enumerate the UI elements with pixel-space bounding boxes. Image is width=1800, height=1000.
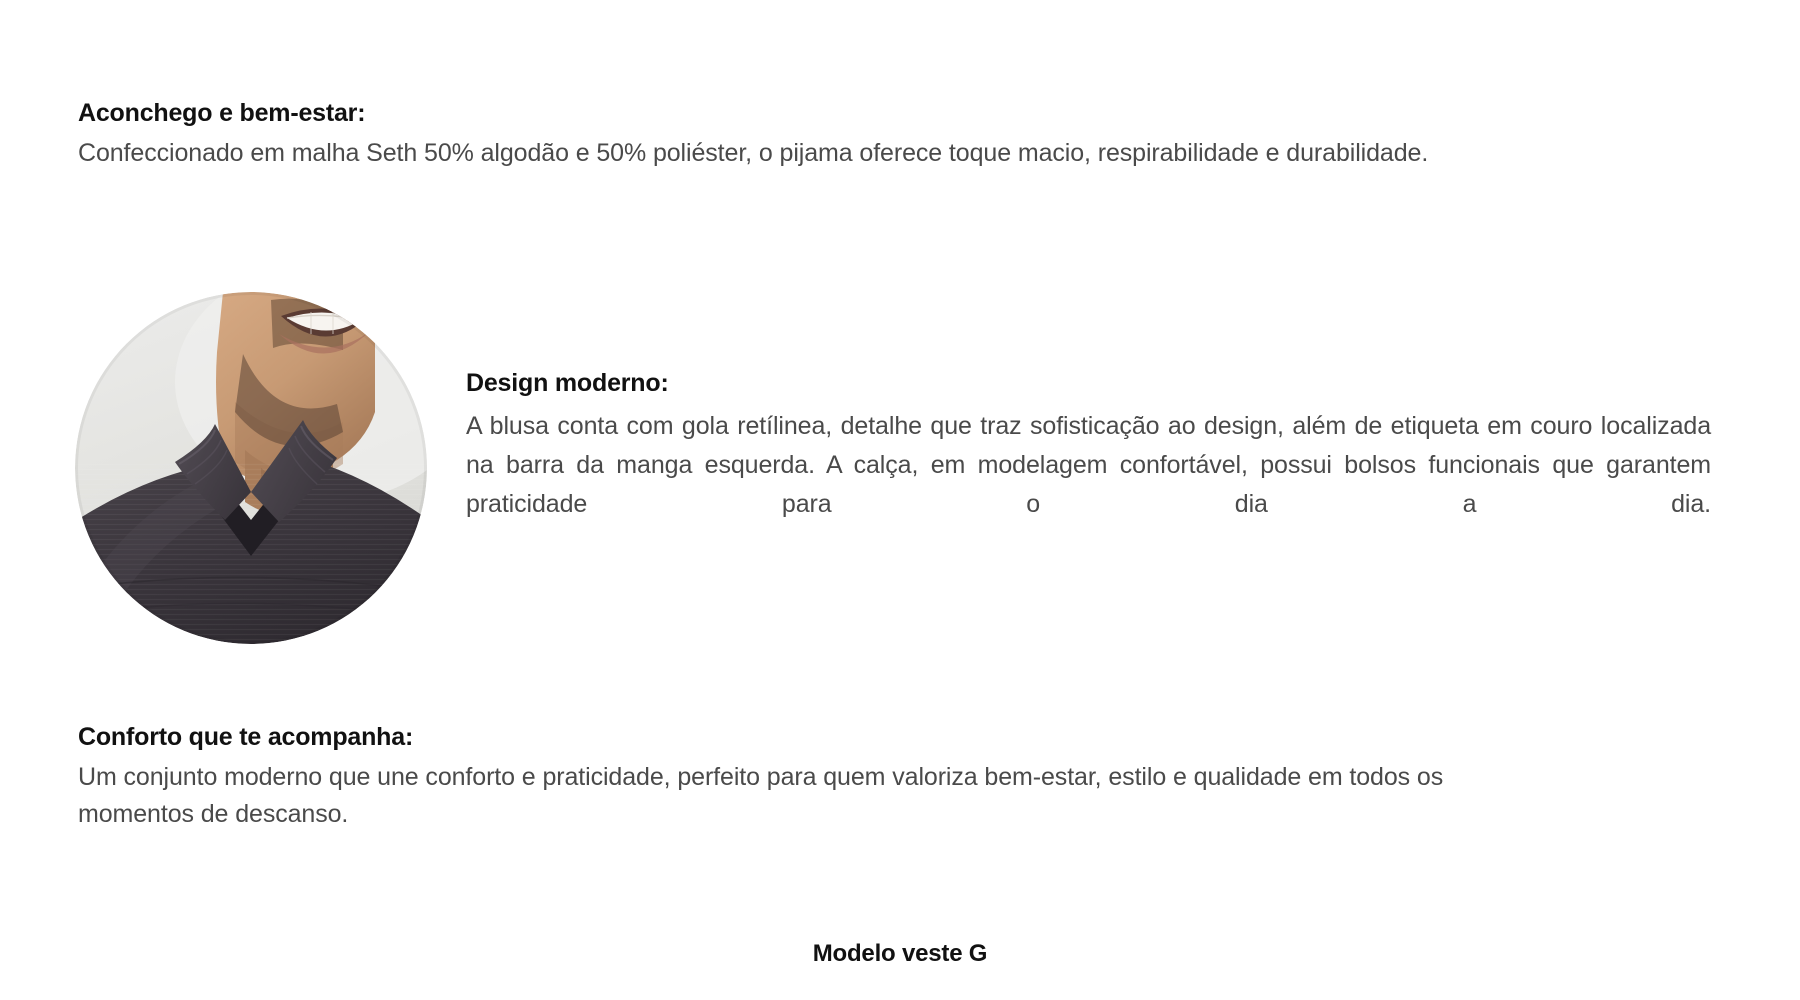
section-design-body: A blusa conta com gola retílinea, detalh…	[466, 407, 1711, 563]
section-comfort-heading: Aconchego e bem-estar:	[78, 98, 1498, 129]
model-photo-illustration	[75, 292, 427, 644]
section-design: Design moderno: A blusa conta com gola r…	[466, 368, 1711, 563]
model-size-note: Modelo veste G	[0, 940, 1800, 968]
section-closing: Conforto que te acompanha: Um conjunto m…	[78, 722, 1508, 833]
section-closing-heading: Conforto que te acompanha:	[78, 722, 1508, 753]
model-photo	[75, 292, 427, 644]
section-closing-body: Um conjunto moderno que une conforto e p…	[78, 759, 1508, 833]
section-design-heading: Design moderno:	[466, 368, 1711, 399]
product-description-page: Aconchego e bem-estar: Confeccionado em …	[0, 0, 1800, 1000]
section-comfort: Aconchego e bem-estar: Confeccionado em …	[78, 98, 1498, 172]
section-comfort-body: Confeccionado em malha Seth 50% algodão …	[78, 135, 1498, 172]
